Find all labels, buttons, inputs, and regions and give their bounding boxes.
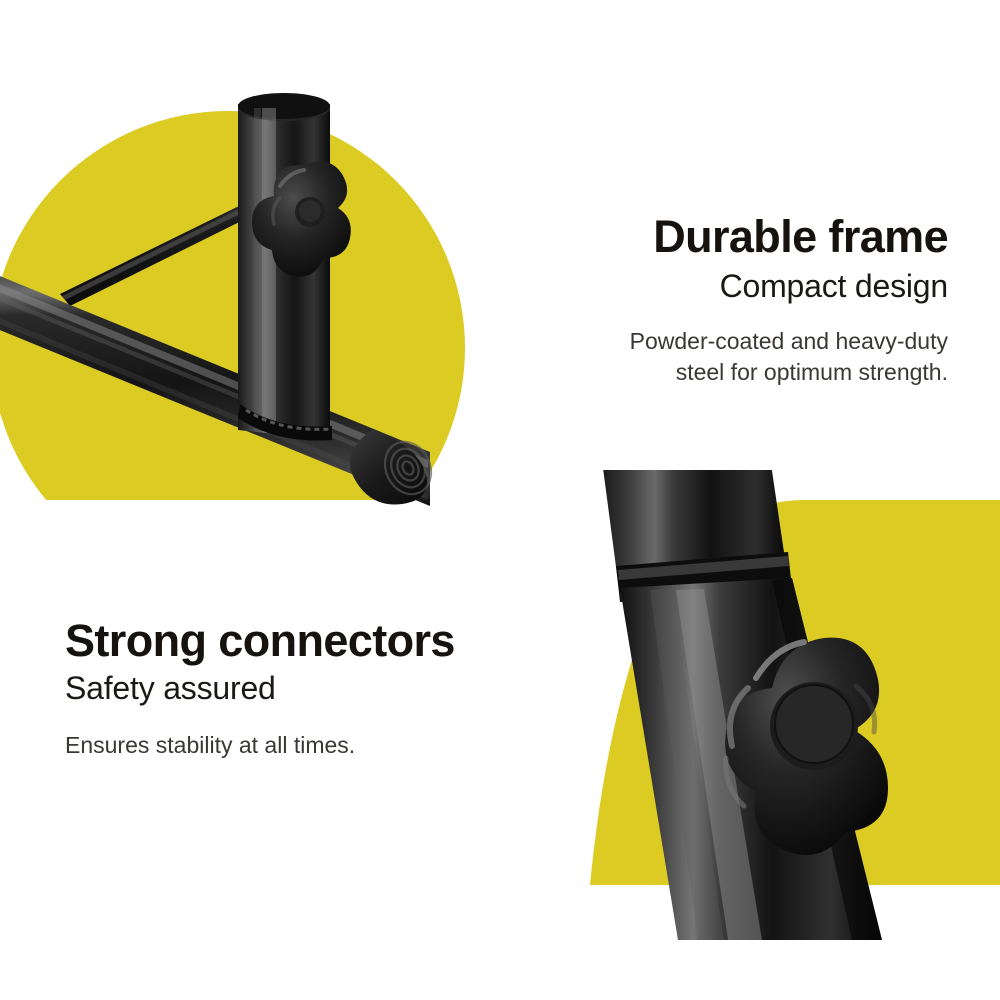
feature-block-strong-connectors: Strong connectors Safety assured Ensures… bbox=[65, 618, 485, 761]
feature-headline: Durable frame bbox=[653, 214, 948, 260]
feature-body-line: Ensures stability at all times. bbox=[65, 730, 355, 761]
connector-knob-image bbox=[500, 470, 1000, 940]
feature-body-line: Powder-coated and heavy-duty bbox=[630, 326, 948, 357]
feature-subhead: Compact design bbox=[720, 268, 948, 306]
feature-panel-canvas: Durable frame Compact design Powder-coat… bbox=[0, 0, 1000, 1000]
connector-knob-illustration bbox=[500, 470, 1000, 940]
feature-body: Ensures stability at all times. bbox=[65, 730, 355, 761]
feature-body: Powder-coated and heavy-duty steel for o… bbox=[630, 326, 948, 389]
frame-joint-image bbox=[0, 0, 500, 510]
feature-headline: Strong connectors bbox=[65, 618, 455, 664]
frame-joint-illustration bbox=[0, 0, 500, 510]
feature-subhead: Safety assured bbox=[65, 670, 276, 708]
feature-block-durable-frame: Durable frame Compact design Powder-coat… bbox=[560, 214, 948, 388]
feature-body-line: steel for optimum strength. bbox=[630, 357, 948, 388]
